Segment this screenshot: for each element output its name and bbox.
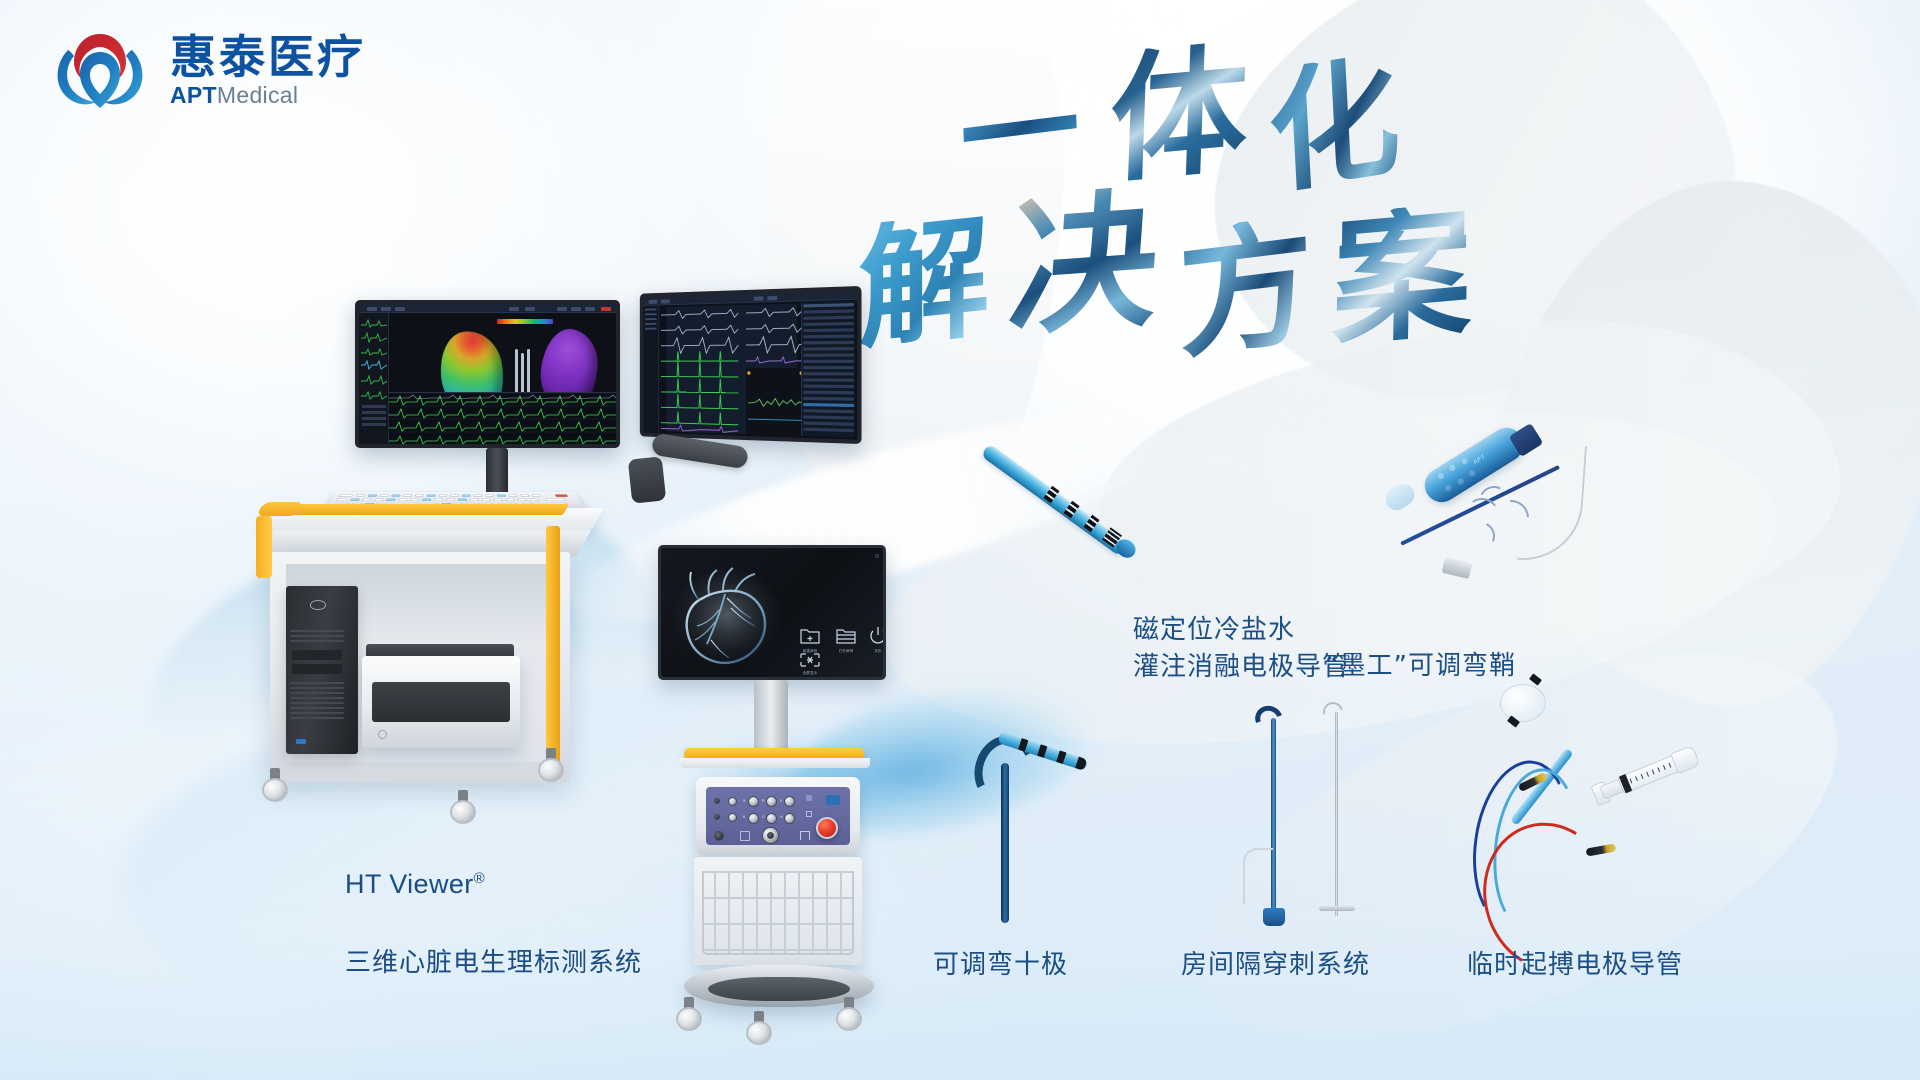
transseptal-side-arm [1243,848,1273,904]
mapping-monitor-screen [359,304,616,444]
new-case-icon[interactable]: 新建病例 [799,626,821,653]
ep-waveform-area [659,301,801,437]
headline-char-4: 解 [858,211,989,358]
printer-power-button[interactable] [378,730,387,739]
ablation-label-line2: 灌注消融电极导管 [1133,652,1349,682]
headline-char-6: 方 [1176,213,1316,366]
stimulator-caster-wheel [836,997,862,1031]
steerable-sheath-product: APT [1395,430,1655,630]
stimulator-display: 新建病例 打开病例 关机 全屏显示 [658,545,886,680]
decapolar-catheter-label: 可调弯十极 [933,947,1068,984]
pacing-catheter-label: 临时起搏电极导管 [1467,947,1683,984]
stimulator-caster-wheel [676,997,702,1031]
printer-paper-slot [372,682,510,722]
cart-upright-left-yellow [256,516,272,578]
brand-name-cn: 惠泰医疗 [170,33,366,81]
sheath-shaft-curve [1517,442,1587,564]
ablation-catheter-label: 磁定位冷盐水灌注消融电极导管 [1133,612,1349,686]
pacing-catheter-balloon [1500,684,1546,722]
mapping-side-panel [359,313,389,444]
cart-caster-wheel [262,768,288,802]
transseptal-needle-tip [1319,698,1346,725]
transseptal-label-line1: 房间隔穿刺系统 [1181,950,1370,980]
brand-name-en-primary: APT [170,82,217,108]
fullscreen-icon[interactable]: 全屏显示 [799,652,821,675]
transseptal-dilator-tip [1251,701,1287,736]
cart-desk-edge-yellow [263,504,569,515]
transseptal-hub [1263,908,1285,926]
brand-logo: 惠泰医疗 APTMedical [48,22,366,118]
pacing-label-line1: 临时起搏电极导管 [1467,950,1683,980]
pacing-tip-electrode [1529,673,1542,685]
mapping-app-toolbar [359,304,616,313]
open-case-icon[interactable]: 打开病例 [835,626,857,653]
cart-caster-wheel [450,790,476,824]
transseptal-system-label: 房间隔穿刺系统 [1181,947,1370,984]
pc-brand-logo-icon [310,600,326,610]
headline-char-7: 案 [1331,202,1473,355]
poster-canvas: 惠泰医疗 APTMedical 一 体 化 解 决 方 案 [0,0,1920,1080]
apt-medical-heart-logo-icon [48,22,152,118]
ht-viewer-label: HT Viewer® 三维心脏电生理标测系统 [345,828,642,1019]
display-indicator [875,554,879,558]
stimulator-display-column [754,680,788,752]
heart-xray-illustration [669,564,787,672]
workstation-pc-tower [286,586,358,754]
ablation-catheter-product [985,442,1185,602]
transseptal-needle-wing [1319,906,1355,911]
transseptal-puncture-system-product [1225,700,1385,930]
ht-viewer-product-name: HT Viewer [345,869,474,899]
headline-char-5: 决 [1005,184,1163,343]
mapping-ecg-strip [389,392,616,444]
ht-viewer-name-cn: 三维心脏电生理标测系统 [345,945,642,982]
temporary-pacing-catheter-product [1478,672,1768,932]
ep-channel-list [643,305,659,433]
pc-power-led [296,739,306,744]
inflation-syringe [1603,743,1702,803]
headline-calligraphy: 一 体 化 解 决 方 案 [950,40,1650,370]
brand-name-en: APTMedical [170,84,366,107]
sheath-hemostasis-valve [1441,557,1472,579]
headline-char-2: 体 [1108,40,1250,191]
emergency-stop-button[interactable] [816,817,838,839]
stimulator-cart-base-inner [708,977,850,1001]
transseptal-needle [1335,712,1338,916]
headline-char-3: 化 [1265,49,1402,202]
monitor-stand-neck [486,448,508,496]
storage-basket [702,871,854,955]
decapolar-catheter-product [955,725,1105,925]
power-icon[interactable]: 关机 [869,626,886,653]
stimulator-tray [680,758,870,768]
ht-viewer-name-en: HT Viewer® [345,865,642,903]
cart-upright-right-yellow [546,526,560,776]
ablation-label-line1: 磁定位冷盐水 [1133,615,1295,645]
voltage-colorbar [497,319,553,324]
mapping-monitor-left [355,300,620,448]
ep-recording-monitor-right [640,286,862,444]
cart-caster-wheel [538,748,564,782]
ep-recording-screen [643,290,857,439]
decapolar-label-line1: 可调弯十极 [933,950,1068,980]
stimulator-cart: 新建病例 打开病例 关机 全屏显示 [650,545,940,1045]
ht-viewer-trademark: ® [474,870,485,887]
brand-name-en-secondary: Medical [217,82,298,108]
brand-logo-text: 惠泰医疗 APTMedical [170,33,366,106]
monitor-arm-joint [628,456,666,503]
sheath-handle-brand: APT [1473,454,1487,466]
stimulator-caster-wheel [746,1011,772,1045]
ep-measurement-table [801,301,855,438]
